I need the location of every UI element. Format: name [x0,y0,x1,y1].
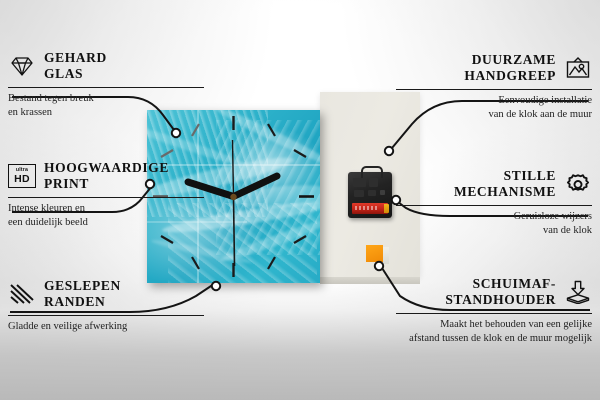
ultra-hd-icon: ultra HD [8,164,36,188]
feature-schuimaf-standhouder[interactable]: SCHUIMAF-STANDHOUDER Maakt het behouden … [396,276,592,346]
movement-detail [380,190,385,195]
feature-title: GEHARDGLAS [44,50,204,83]
battery-label [355,206,377,210]
foam-spacer-side [383,247,389,264]
feature-divider [396,89,592,90]
movement-detail [354,190,364,197]
feature-description: Bestand tegen breuken krassen [8,92,204,120]
gear-icon [564,172,592,196]
feature-stille-mechanisme[interactable]: STILLEMECHANISME Geruisloze wijzersvan d… [396,168,592,238]
foam-spacer [366,245,383,262]
feature-title: SCHUIMAF-STANDHOUDER [396,276,556,309]
aa-battery [352,203,388,214]
feature-head: SCHUIMAF-STANDHOUDER [396,276,592,309]
movement-detail [369,178,378,187]
feature-divider [396,205,592,206]
movement-hanger [361,166,383,178]
feature-description: Intense kleuren eneen duidelijk beeld [8,202,204,230]
feature-title: STILLEMECHANISME [396,168,556,201]
beveled-edges-icon [8,282,36,306]
feature-hoogwaardige-print[interactable]: ultra HD HOOGWAARDIGEPRINT Intense kleur… [8,160,204,230]
feature-description: Maakt het behouden van een gelijkeafstan… [396,318,592,346]
feature-head: GEHARDGLAS [8,50,204,83]
feature-geslepen-randen[interactable]: GESLEPENRANDEN Gladde en veilige afwerki… [8,278,204,334]
feature-head: DUURZAMEHANDGREEP [396,52,592,85]
feature-head: STILLEMECHANISME [396,168,592,201]
movement-detail [353,178,366,187]
feature-description: Geruisloze wijzersvan de klok [396,210,592,238]
feature-divider [8,197,204,198]
diamond-icon [8,54,36,78]
battery-positive-terminal [384,204,389,213]
feature-divider [8,87,204,88]
movement-detail [368,190,376,196]
spacer-standoff-icon [564,280,592,304]
infographic-stage: GEHARDGLAS Bestand tegen breuken krassen… [0,0,600,400]
feature-gehard-glas[interactable]: GEHARDGLAS Bestand tegen breuken krassen [8,50,204,120]
feature-description: Gladde en veilige afwerking [8,320,204,334]
ultra-hd-icon-bottom: HD [14,174,30,185]
feature-title: GESLEPENRANDEN [44,278,204,311]
feature-head: GESLEPENRANDEN [8,278,204,311]
feature-title: HOOGWAARDIGEPRINT [44,160,204,193]
picture-frame-icon [564,56,592,80]
connector-dot-randen [212,282,220,290]
feature-title: DUURZAMEHANDGREEP [396,52,556,85]
feature-divider [396,313,592,314]
feature-divider [8,315,204,316]
clock-movement [348,172,392,218]
feature-duurzame-handgreep[interactable]: DUURZAMEHANDGREEP Eenvoudige installatie… [396,52,592,122]
feature-description: Eenvoudige installatievan de klok aan de… [396,94,592,122]
feature-head: ultra HD HOOGWAARDIGEPRINT [8,160,204,193]
